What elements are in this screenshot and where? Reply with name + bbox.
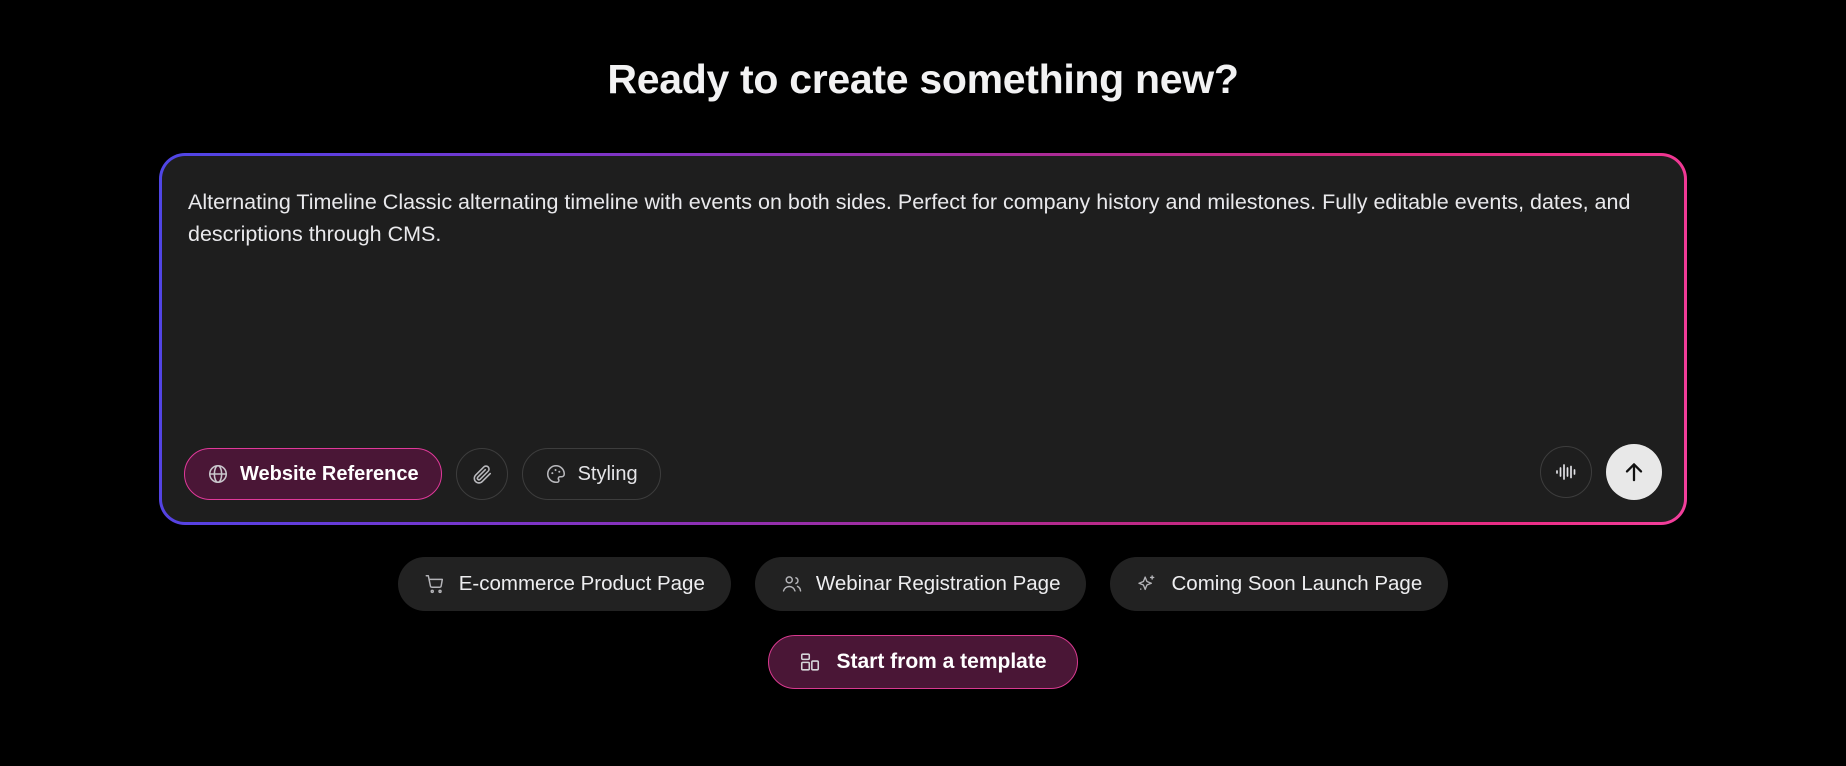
suggestion-ecommerce-product-page[interactable]: E-commerce Product Page: [398, 557, 731, 611]
users-icon: [781, 573, 803, 595]
palette-icon: [545, 463, 567, 485]
arrow-up-icon: [1621, 459, 1647, 485]
paperclip-icon: [471, 463, 493, 485]
sparkles-icon: [1136, 573, 1158, 595]
suggestion-label: Webinar Registration Page: [816, 572, 1061, 596]
layout-dashboard-icon: [799, 651, 821, 673]
composer-toolbar: Website Reference: [162, 448, 1684, 522]
prompt-input[interactable]: Alternating Timeline Classic alternating…: [162, 156, 1684, 448]
shopping-cart-icon: [424, 573, 446, 595]
template-row: Start from a template: [768, 635, 1077, 689]
suggestion-chips: E-commerce Product Page Webinar Registra…: [398, 557, 1448, 611]
composer-actions: [1540, 444, 1662, 500]
styling-label: Styling: [578, 463, 638, 486]
suggestion-label: Coming Soon Launch Page: [1171, 572, 1422, 596]
suggestion-webinar-registration-page[interactable]: Webinar Registration Page: [755, 557, 1087, 611]
submit-prompt-button[interactable]: [1606, 444, 1662, 500]
website-reference-label: Website Reference: [240, 463, 419, 486]
audio-waveform-icon: [1553, 461, 1579, 483]
website-reference-button[interactable]: Website Reference: [184, 448, 442, 500]
globe-icon: [207, 463, 229, 485]
prompt-composer: Alternating Timeline Classic alternating…: [159, 153, 1687, 525]
start-from-template-button[interactable]: Start from a template: [768, 635, 1077, 689]
attach-file-button[interactable]: [456, 448, 508, 500]
suggestion-label: E-commerce Product Page: [459, 572, 705, 596]
start-from-template-label: Start from a template: [836, 650, 1046, 674]
page-title: Ready to create something new?: [607, 56, 1238, 103]
suggestion-coming-soon-launch-page[interactable]: Coming Soon Launch Page: [1110, 557, 1448, 611]
voice-input-button[interactable]: [1540, 446, 1592, 498]
prompt-composer-inner: Alternating Timeline Classic alternating…: [162, 156, 1684, 522]
styling-button[interactable]: Styling: [522, 448, 661, 500]
